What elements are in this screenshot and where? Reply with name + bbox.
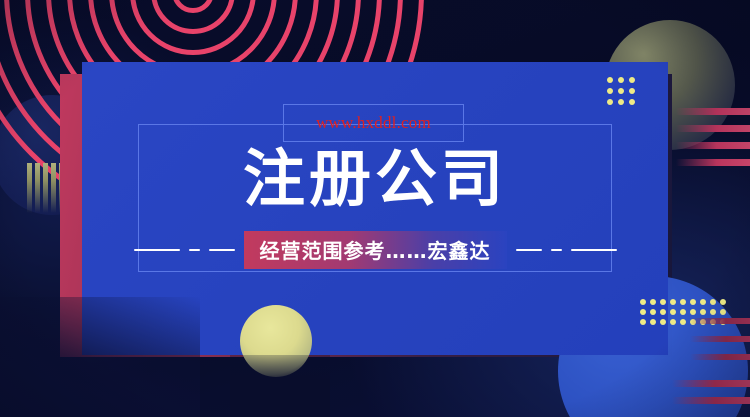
red-bar bbox=[672, 380, 750, 387]
grid-dot bbox=[618, 99, 624, 105]
grid-dot bbox=[680, 319, 686, 325]
grid-dot bbox=[607, 77, 613, 83]
grid-dot bbox=[650, 319, 656, 325]
dash-long-right bbox=[571, 249, 617, 252]
dash-mid-left bbox=[209, 249, 235, 252]
page-title: 注册公司 bbox=[0, 148, 750, 210]
grid-dot bbox=[700, 309, 706, 315]
dash-mid-right bbox=[516, 249, 542, 252]
grid-dot bbox=[618, 88, 624, 94]
url-text: www.hxddl.com bbox=[316, 113, 431, 133]
red-bar bbox=[676, 108, 750, 115]
grid-dot bbox=[660, 299, 666, 305]
subtitle-badge: 经营范围参考……宏鑫达 bbox=[244, 231, 507, 269]
grid-dot bbox=[720, 299, 726, 305]
red-horizontal-bars-bottom bbox=[672, 380, 750, 414]
grid-dot bbox=[629, 88, 635, 94]
grid-dot bbox=[670, 299, 676, 305]
grid-dot bbox=[670, 319, 676, 325]
grid-dot bbox=[720, 309, 726, 315]
grid-dot bbox=[650, 299, 656, 305]
red-bar bbox=[690, 318, 750, 324]
poster-canvas: www.hxddl.com 注册公司 经营范围参考……宏鑫达 bbox=[0, 0, 750, 417]
red-bar bbox=[676, 125, 750, 132]
grid-dot bbox=[660, 319, 666, 325]
grid-dot bbox=[629, 77, 635, 83]
grid-dot bbox=[640, 309, 646, 315]
dash-short-left bbox=[189, 249, 200, 252]
yellow-sphere-fade-mask bbox=[230, 355, 330, 417]
subtitle-row: 经营范围参考……宏鑫达 bbox=[0, 231, 750, 269]
grid-dot bbox=[629, 99, 635, 105]
grid-dot bbox=[700, 299, 706, 305]
grid-dot bbox=[690, 309, 696, 315]
red-bar bbox=[690, 336, 750, 342]
grid-dot bbox=[618, 77, 624, 83]
grid-dot bbox=[690, 299, 696, 305]
grid-dot bbox=[710, 299, 716, 305]
url-badge[interactable]: www.hxddl.com bbox=[283, 104, 464, 142]
grid-dot bbox=[670, 309, 676, 315]
grid-dot bbox=[650, 309, 656, 315]
grid-dot bbox=[640, 319, 646, 325]
grid-dot bbox=[640, 299, 646, 305]
red-horizontal-bars-mid bbox=[690, 318, 750, 372]
grid-dot bbox=[680, 299, 686, 305]
dot-grid-3x3 bbox=[607, 77, 635, 105]
grid-dot bbox=[607, 99, 613, 105]
grid-dot bbox=[680, 309, 686, 315]
grid-dot bbox=[607, 88, 613, 94]
dash-long-left bbox=[134, 249, 180, 252]
grid-dot bbox=[660, 309, 666, 315]
grid-dot bbox=[710, 309, 716, 315]
red-bar bbox=[690, 354, 750, 360]
red-bar bbox=[672, 397, 750, 404]
bottom-left-shadow-wedge bbox=[0, 297, 200, 417]
dash-short-right bbox=[551, 249, 562, 252]
